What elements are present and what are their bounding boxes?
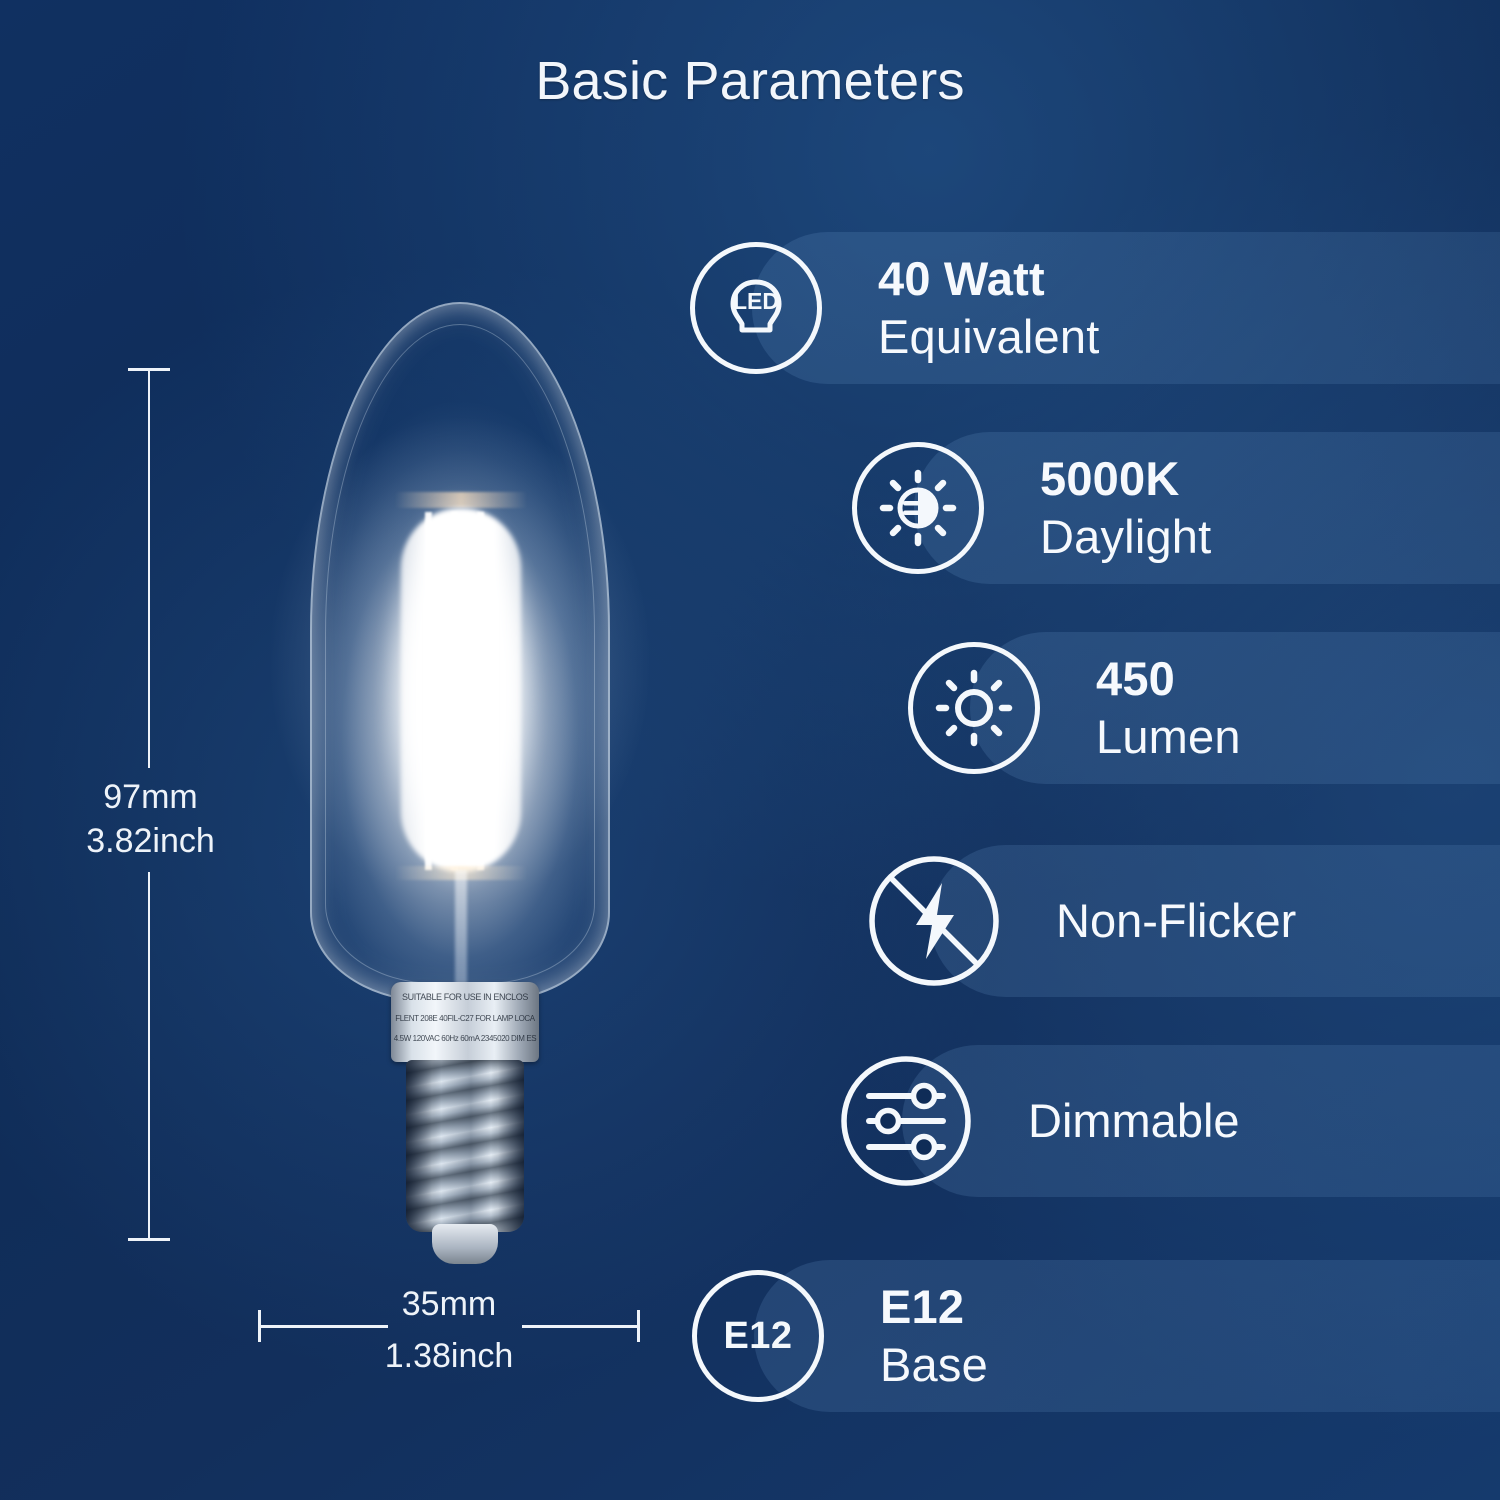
width-label-mm: 35mm: [346, 1282, 552, 1326]
filament-strip-1: [425, 512, 432, 870]
bulb-contact-tip: [432, 1224, 498, 1264]
e12-base-icon: E12: [692, 1270, 824, 1402]
feature-row-dimmable[interactable]: Dimmable: [840, 1045, 1240, 1197]
feature-unit-base: Base: [880, 1336, 988, 1394]
feature-value-lumen: 450: [1096, 650, 1241, 708]
svg-text:LED: LED: [733, 288, 779, 314]
feature-row-base[interactable]: E12 E12 Base: [692, 1260, 988, 1412]
feature-text-base: E12 Base: [880, 1278, 988, 1394]
e12-screw-shading: [406, 1060, 524, 1232]
width-label-inch: 1.38inch: [346, 1334, 552, 1378]
feature-value-watt: 40 Watt: [878, 250, 1100, 308]
feature-value-dimmable: Dimmable: [1028, 1092, 1240, 1150]
filament-core: [401, 508, 521, 872]
feature-value-color-temp: 5000K: [1040, 450, 1211, 508]
color-temperature-icon: [852, 442, 984, 574]
product-infographic: Basic Parameters SUITABLE FOR USE IN ENC…: [0, 0, 1500, 1500]
feature-text-lumen: 450 Lumen: [1096, 650, 1241, 766]
feature-text-color-temp: 5000K Daylight: [1040, 450, 1211, 566]
filament-strip-3: [477, 512, 484, 870]
width-cap-right: [637, 1310, 640, 1342]
led-bulb-icon: LED: [690, 242, 822, 374]
height-cap-top: [128, 368, 170, 371]
cap-print-line-1: SUITABLE FOR USE IN ENCLOS: [391, 990, 539, 1004]
height-line-upper: [148, 368, 150, 768]
feature-text-flicker: Non-Flicker: [1056, 892, 1296, 950]
feature-unit-color-temp: Daylight: [1040, 508, 1211, 566]
feature-pill-base: [754, 1260, 1500, 1412]
height-label-inch: 3.82inch: [48, 819, 253, 863]
filament-strip-2: [451, 512, 458, 870]
feature-text-watt: 40 Watt Equivalent: [878, 250, 1100, 366]
feature-row-watt[interactable]: LED 40 Watt Equivalent: [690, 232, 1100, 384]
feature-text-dimmable: Dimmable: [1028, 1092, 1240, 1150]
cap-print-line-3: 4.5W 120VAC 60Hz 60mA 2345020 DIM ES: [391, 1032, 539, 1046]
height-label-mm: 97mm: [48, 775, 253, 819]
page-title: Basic Parameters: [0, 50, 1500, 112]
dimmable-sliders-icon: [840, 1055, 972, 1187]
feature-value-base: E12: [880, 1278, 988, 1336]
feature-value-flicker: Non-Flicker: [1056, 892, 1296, 950]
no-flicker-icon: [868, 855, 1000, 987]
feature-row-lumen[interactable]: 450 Lumen: [908, 632, 1241, 784]
feature-row-color-temp[interactable]: 5000K Daylight: [852, 432, 1211, 584]
brightness-sun-icon: [908, 642, 1040, 774]
width-cap-left: [258, 1310, 261, 1342]
bulb-stem: [455, 870, 467, 990]
feature-row-flicker[interactable]: Non-Flicker: [868, 845, 1296, 997]
feature-pill-watt: [752, 232, 1500, 384]
bulb-cap-collar: SUITABLE FOR USE IN ENCLOS FLENT 208E 40…: [391, 982, 539, 1062]
height-cap-bottom: [128, 1238, 170, 1241]
height-line-lower: [148, 872, 150, 1240]
bulb-product-image: SUITABLE FOR USE IN ENCLOS FLENT 208E 40…: [255, 280, 675, 1260]
feature-unit-watt: Equivalent: [878, 308, 1100, 366]
e12-icon-label: E12: [723, 1315, 792, 1358]
feature-unit-lumen: Lumen: [1096, 708, 1241, 766]
cap-print-line-2: FLENT 208E 40FIL-C27 FOR LAMP LOCA: [391, 1012, 539, 1026]
